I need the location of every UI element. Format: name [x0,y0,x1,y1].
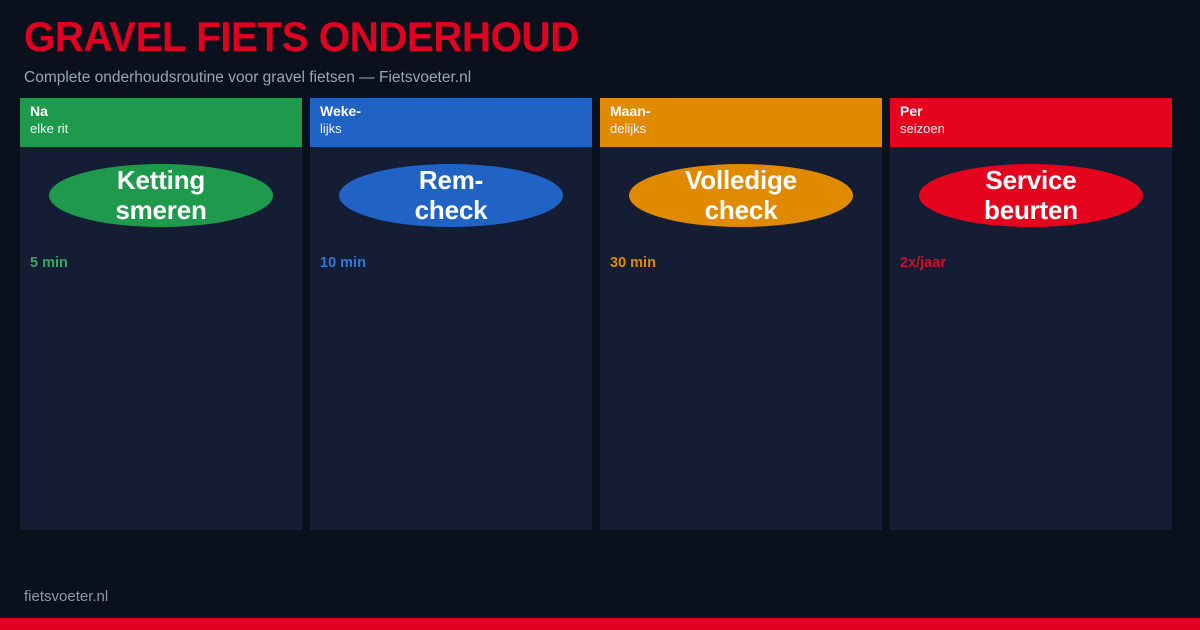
column-header-line1: Weke- [320,103,582,120]
page-footer: fietsvoeter.nl [0,576,1200,618]
task-bubble[interactable]: Volledige check [629,164,853,227]
column-body: Ketting smeren 5 min [20,147,302,530]
column-body: Rem- check 10 min [310,147,592,530]
task-bubble[interactable]: Rem- check [339,164,563,227]
column-header: Maan- delijks [600,98,882,147]
bubble-container: Service beurten [900,147,1162,243]
task-bubble-label: Rem- check [415,165,488,225]
schedule-column-per-seizoen[interactable]: Per seizoen Service beurten 2x/jaar [890,98,1172,530]
column-header-line2: seizoen [900,121,1162,137]
schedule-column-wekelijks[interactable]: Weke- lijks Rem- check 10 min [310,98,592,530]
maintenance-schedule-columns: Na elke rit Ketting smeren 5 min Weke- l… [20,98,1172,530]
column-duration: 2x/jaar [900,254,1162,272]
task-bubble[interactable]: Ketting smeren [49,164,273,227]
column-header-line2: delijks [610,121,872,137]
column-duration: 30 min [610,254,872,272]
page-title: GRAVEL FIETS ONDERHOUD [24,12,1130,62]
bubble-container: Ketting smeren [30,147,292,243]
schedule-column-na-elke-rit[interactable]: Na elke rit Ketting smeren 5 min [20,98,302,530]
column-header-line2: elke rit [30,121,292,137]
page-subtitle: Complete onderhoudsroutine voor gravel f… [24,68,1176,88]
bubble-container: Rem- check [320,147,582,243]
task-bubble-label: Volledige check [685,165,797,225]
column-body: Service beurten 2x/jaar [890,147,1172,530]
column-header: Per seizoen [890,98,1172,147]
task-bubble-label: Service beurten [984,165,1078,225]
column-header-line1: Na [30,103,292,120]
bottom-accent-bar [0,618,1200,630]
task-bubble[interactable]: Service beurten [919,164,1143,227]
page-header: GRAVEL FIETS ONDERHOUD Complete onderhou… [0,0,1200,88]
column-duration: 5 min [30,254,292,272]
schedule-column-maandelijks[interactable]: Maan- delijks Volledige check 30 min [600,98,882,530]
column-header-line2: lijks [320,121,582,137]
footer-site-label: fietsvoeter.nl [24,587,108,607]
task-bubble-label: Ketting smeren [115,165,206,225]
column-header: Na elke rit [20,98,302,147]
column-header-line1: Per [900,103,1162,120]
column-body: Volledige check 30 min [600,147,882,530]
column-duration: 10 min [320,254,582,272]
bubble-container: Volledige check [610,147,872,243]
column-header: Weke- lijks [310,98,592,147]
column-header-line1: Maan- [610,103,872,120]
